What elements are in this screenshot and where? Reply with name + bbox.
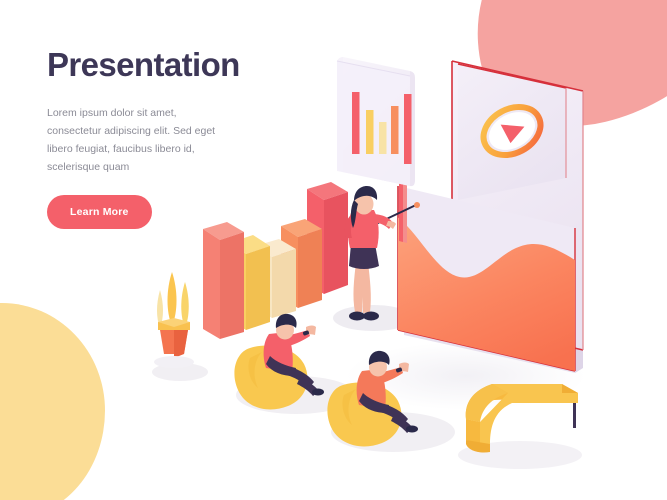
yellow-bench xyxy=(458,384,582,469)
bar-5 xyxy=(307,182,348,294)
decor-blob-top-right xyxy=(450,0,667,148)
bar-3 xyxy=(255,239,296,318)
area-wave-chart xyxy=(396,216,578,378)
potted-plant xyxy=(154,272,194,368)
hero-copy-block: Presentation Lorem ipsum dolor sit amet,… xyxy=(47,47,297,229)
seated-person-right xyxy=(327,351,418,447)
screen-bar-chart xyxy=(352,92,412,164)
main-presentation-screen[interactable] xyxy=(396,61,583,378)
presenter-woman xyxy=(345,186,420,321)
bar-2 xyxy=(229,235,270,330)
seated-person-left xyxy=(234,314,324,410)
bar-chart-screen[interactable] xyxy=(337,57,415,243)
bar-4 xyxy=(281,219,322,308)
page-title: Presentation xyxy=(47,47,297,83)
learn-more-button[interactable]: Learn More xyxy=(47,195,152,229)
decor-blob-bottom-left xyxy=(0,303,105,500)
page-root: Presentation Lorem ipsum dolor sit amet,… xyxy=(0,0,667,500)
hero-body-text: Lorem ipsum dolor sit amet, consectetur … xyxy=(47,104,232,176)
bar-1 xyxy=(203,222,244,339)
ground-shadows xyxy=(152,305,586,452)
play-button-icon[interactable] xyxy=(475,97,549,164)
play-screen[interactable] xyxy=(455,64,566,214)
